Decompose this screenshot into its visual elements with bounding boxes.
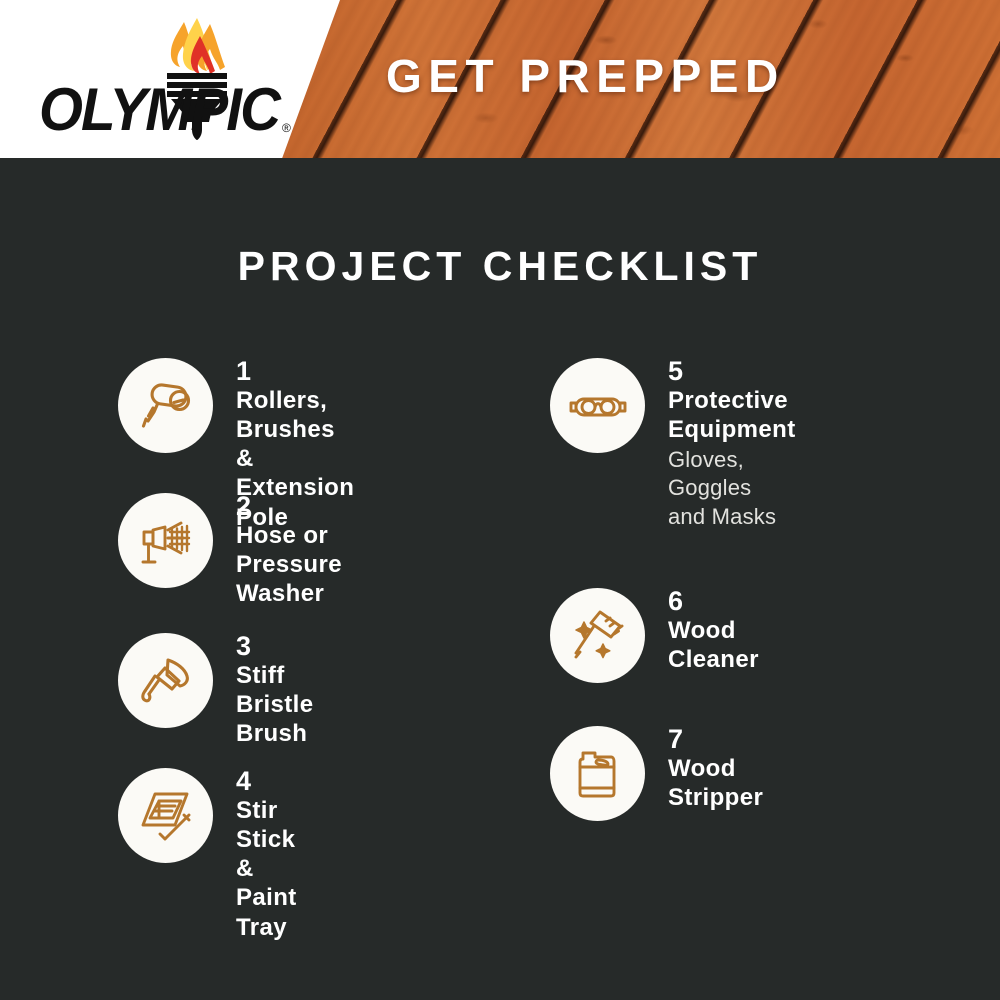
checklist-item-2-text: 2 Hose or Pressure Washer <box>236 493 342 608</box>
item-label-line2: Equipment <box>668 415 796 444</box>
item-label-line1: Stir Stick & <box>236 796 297 884</box>
main-section: PROJECT CHECKLIST 1 Rollers, Brushes & E… <box>0 158 1000 1000</box>
item-sub-line1: Gloves, Goggles <box>668 446 796 501</box>
item-number: 7 <box>668 726 763 754</box>
banner-title: GET PREPPED <box>386 49 785 103</box>
item-number: 6 <box>668 588 759 616</box>
chemical-jug-icon <box>550 726 645 821</box>
bristle-brush-icon <box>118 633 213 728</box>
item-number: 4 <box>236 768 297 796</box>
item-label-line1: Wood Stripper <box>668 754 763 813</box>
olympic-torch-paintbrush-logo[interactable]: OLYMPIC ® <box>34 14 294 142</box>
header-banner: OLYMPIC ® GET PREPPED <box>0 0 1000 158</box>
checklist-item-6-text: 6 Wood Cleaner <box>668 588 759 674</box>
safety-goggles-icon <box>550 358 645 453</box>
item-label-line1: Protective <box>668 386 796 415</box>
item-number: 5 <box>668 358 796 386</box>
checklist-item-4-text: 4 Stir Stick & Paint Tray <box>236 768 297 942</box>
paint-roller-icon <box>118 358 213 453</box>
item-number: 3 <box>236 633 313 661</box>
item-label-line1: Wood Cleaner <box>668 616 759 675</box>
checklist-item-3-text: 3 Stiff Bristle Brush <box>236 633 313 748</box>
paint-tray-stir-stick-icon <box>118 768 213 863</box>
svg-text:®: ® <box>282 121 291 135</box>
item-label-line1: Hose or <box>236 521 342 550</box>
item-label-line1: Stiff Bristle Brush <box>236 661 313 749</box>
pressure-washer-icon <box>118 493 213 588</box>
svg-text:OLYMPIC: OLYMPIC <box>39 76 282 142</box>
item-label-line2: Pressure Washer <box>236 550 342 609</box>
item-number: 1 <box>236 358 354 386</box>
item-label-line1: Rollers, Brushes <box>236 386 354 445</box>
item-sub-line2: and Masks <box>668 503 796 531</box>
checklist-item-5-text: 5 Protective Equipment Gloves, Goggles a… <box>668 358 796 531</box>
logo-panel: OLYMPIC ® <box>0 0 340 158</box>
scrub-brush-sparkle-icon <box>550 588 645 683</box>
item-number: 2 <box>236 493 342 521</box>
page-title: PROJECT CHECKLIST <box>0 243 1000 290</box>
item-label-line2: Paint Tray <box>236 883 297 942</box>
checklist-item-7-text: 7 Wood Stripper <box>668 726 763 812</box>
